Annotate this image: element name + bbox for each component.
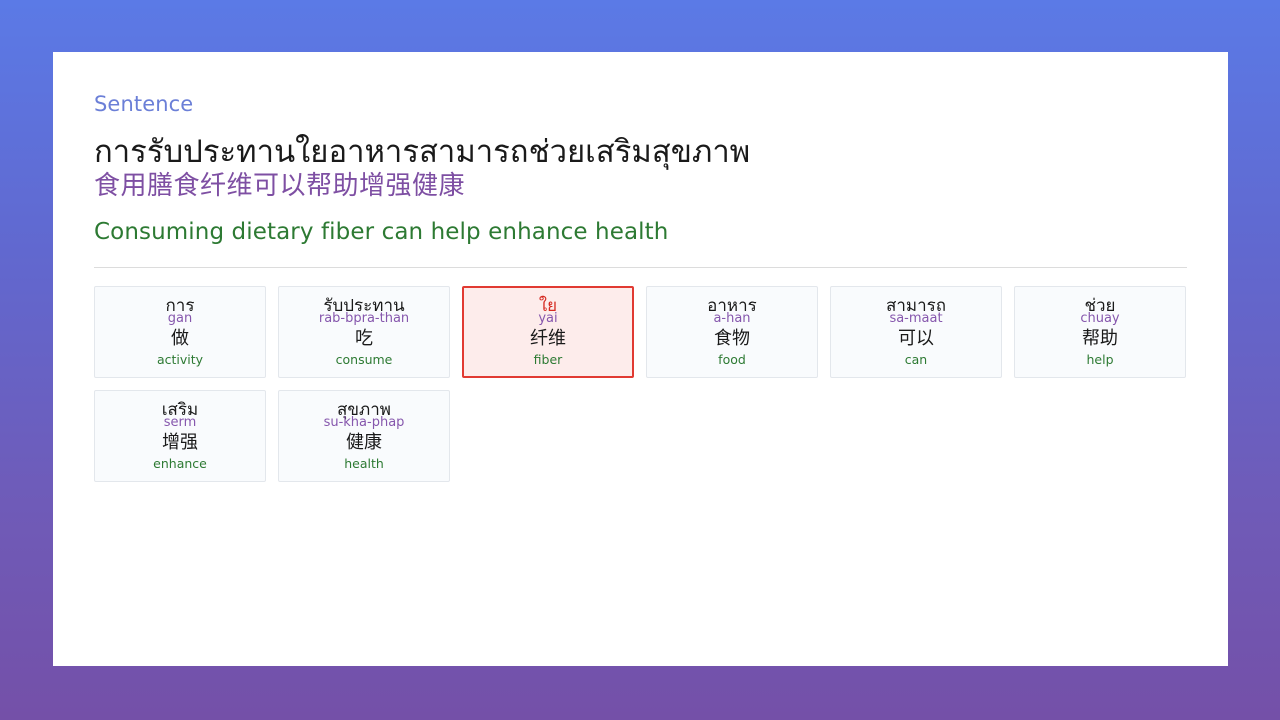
sentence-thai: การรับประทานใยอาหารสามารถช่วยเสริมสุขภาพ: [94, 133, 1187, 172]
sentence-english: Consuming dietary fiber can help enhance…: [94, 217, 1187, 248]
token-chinese: 帮助: [1082, 330, 1118, 348]
token-english: consume: [336, 354, 393, 367]
token-card[interactable]: รับประทานrab-bpra-than吃consume: [278, 286, 450, 378]
token-romanization: rab-bpra-than: [319, 312, 409, 325]
token-chinese: 食物: [714, 330, 750, 348]
token-romanization: serm: [164, 416, 197, 429]
token-chinese: 做: [171, 330, 189, 348]
token-chinese: 纤维: [530, 330, 566, 348]
token-card-grid: การgan做activityรับประทานrab-bpra-than吃co…: [94, 286, 1190, 482]
token-chinese: 可以: [898, 330, 934, 348]
section-label-sentence: Sentence: [94, 92, 1187, 117]
token-romanization: a-han: [713, 312, 750, 325]
sentence-chinese: 食用膳食纤维可以帮助增强健康: [94, 170, 1187, 204]
token-romanization: yai: [538, 312, 557, 325]
token-romanization: chuay: [1080, 312, 1119, 325]
app-root: Sentence การรับประทานใยอาหารสามารถช่วยเส…: [0, 0, 1280, 720]
token-english: enhance: [153, 458, 207, 471]
token-english: help: [1086, 354, 1113, 367]
token-romanization: su-kha-phap: [324, 416, 405, 429]
token-card[interactable]: เสริมserm增强enhance: [94, 390, 266, 482]
token-chinese: 健康: [346, 434, 382, 452]
token-english: health: [344, 458, 384, 471]
token-card[interactable]: อาหารa-han食物food: [646, 286, 818, 378]
token-english: food: [718, 354, 746, 367]
token-romanization: sa-maat: [889, 312, 942, 325]
token-card[interactable]: การgan做activity: [94, 286, 266, 378]
section-divider: [94, 267, 1187, 268]
token-card[interactable]: ใยyai纤维fiber: [462, 286, 634, 378]
token-romanization: gan: [168, 312, 192, 325]
token-chinese: 增强: [162, 434, 198, 452]
token-chinese: 吃: [355, 330, 373, 348]
token-english: can: [905, 354, 927, 367]
token-english: activity: [157, 354, 203, 367]
sentence-panel: Sentence การรับประทานใยอาหารสามารถช่วยเส…: [53, 52, 1228, 666]
token-card[interactable]: สุขภาพsu-kha-phap健康health: [278, 390, 450, 482]
token-card[interactable]: สามารถsa-maat可以can: [830, 286, 1002, 378]
token-card[interactable]: ช่วยchuay帮助help: [1014, 286, 1186, 378]
token-english: fiber: [534, 354, 563, 367]
panel-content: Sentence การรับประทานใยอาหารสามารถช่วยเส…: [53, 52, 1228, 482]
